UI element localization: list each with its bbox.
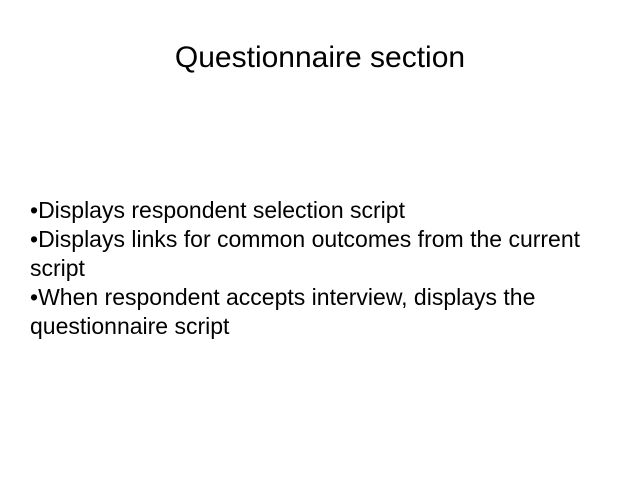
bullet-icon: • — [30, 226, 38, 252]
page-title: Questionnaire section — [0, 38, 640, 78]
bullet-icon: • — [30, 284, 38, 310]
bullet-list: •Displays respondent selection script •D… — [30, 196, 610, 341]
list-item: •Displays links for common outcomes from… — [30, 225, 610, 283]
list-item-label: Displays respondent selection script — [38, 197, 405, 223]
list-item: •Displays respondent selection script — [30, 196, 610, 225]
list-item-label: Displays links for common outcomes from … — [30, 226, 580, 281]
slide-canvas: Questionnaire section •Displays responde… — [0, 0, 640, 480]
list-item: •When respondent accepts interview, disp… — [30, 283, 610, 341]
list-item-label: When respondent accepts interview, displ… — [30, 284, 535, 339]
bullet-icon: • — [30, 197, 38, 223]
